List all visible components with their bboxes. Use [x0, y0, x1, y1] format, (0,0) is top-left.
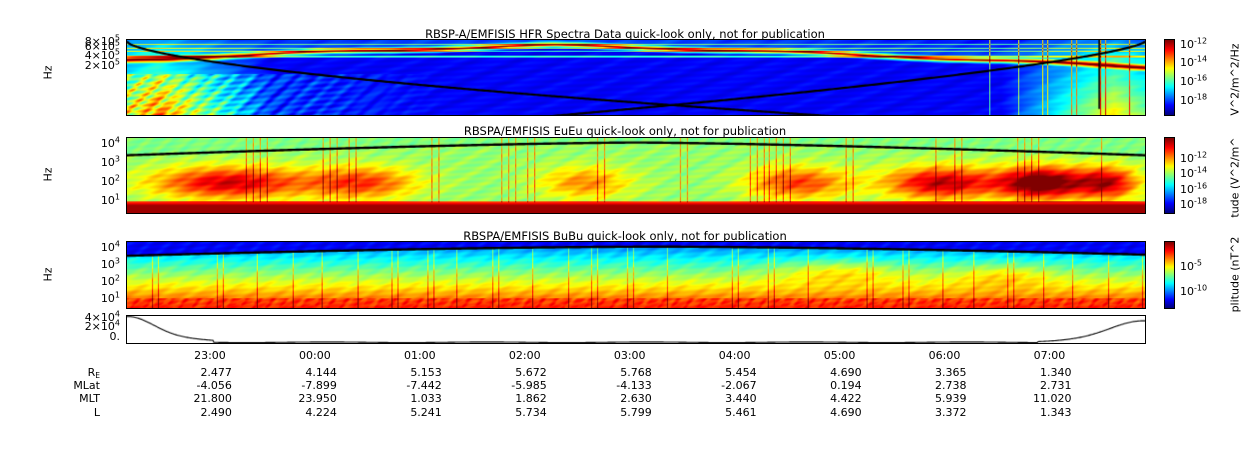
- ytick-bubu-2: 102: [58, 276, 120, 287]
- colorbar-title-bubu: plitude (nT^2: [1229, 225, 1242, 325]
- ephemeris-value: 5.768: [570, 366, 652, 380]
- colorbar-hfr: [1164, 39, 1175, 116]
- ephemeris-value: -4.056: [150, 379, 232, 393]
- ephemeris-value: 4.422: [780, 392, 862, 406]
- time-tick-4: 03:00: [600, 349, 660, 362]
- colorbar-tick-bubu-1: 10-10: [1180, 286, 1207, 297]
- plot-bubu: [126, 241, 1146, 309]
- colorbar-tick-eueu-3: 10-18: [1180, 199, 1207, 210]
- colorbar-tick-hfr-0: 10-12: [1180, 39, 1207, 50]
- ephemeris-value: 4.144: [255, 366, 337, 380]
- ytick-bubu-3: 101: [58, 293, 120, 304]
- time-tick-5: 04:00: [705, 349, 765, 362]
- yaxis-title-bubu: Hz: [42, 255, 55, 295]
- time-tick-2: 01:00: [390, 349, 450, 362]
- time-tick-6: 05:00: [810, 349, 870, 362]
- ytick-eueu-2: 102: [58, 176, 120, 187]
- ephemeris-row-label-1: MLat: [30, 379, 100, 393]
- yaxis-title-eueu: Hz: [42, 155, 55, 195]
- ephemeris-value: 5.241: [360, 406, 442, 420]
- ephemeris-value: 5.672: [465, 366, 547, 380]
- ephemeris-value: 2.738: [885, 379, 967, 393]
- ephemeris-value: 4.690: [780, 366, 862, 380]
- ephemeris-value: 23.950: [255, 392, 337, 406]
- yaxis-title-hfr: Hz: [42, 53, 55, 93]
- ephemeris-value: 5.939: [885, 392, 967, 406]
- figure-root: RBSP-A/EMFISIS HFR Spectra Data quick-lo…: [0, 0, 1250, 449]
- ephemeris-value: 5.461: [675, 406, 757, 420]
- colorbar-tick-eueu-2: 10-16: [1180, 184, 1207, 195]
- panel-title-eueu: RBSPA/EMFISIS EuEu quick-look only, not …: [0, 124, 1250, 138]
- ephemeris-value: 5.153: [360, 366, 442, 380]
- colorbar-bubu: [1164, 241, 1175, 309]
- ephemeris-value: 2.477: [150, 366, 232, 380]
- ephemeris-value: 3.440: [675, 392, 757, 406]
- colorbar-title-hfr: V^2/m^2/Hz: [1229, 30, 1242, 130]
- ephemeris-value: 1.340: [989, 366, 1071, 380]
- colorbar-tick-eueu-1: 10-14: [1180, 168, 1207, 179]
- plot-density-line: [126, 315, 1146, 344]
- ephemeris-value: 2.490: [150, 406, 232, 420]
- time-tick-0: 23:00: [180, 349, 240, 362]
- ephemeris-value: -7.442: [360, 379, 442, 393]
- colorbar-tick-hfr-3: 10-18: [1180, 95, 1207, 106]
- ytick-hfr-3: 2×105: [58, 60, 120, 71]
- ytick-eueu-0: 104: [58, 138, 120, 149]
- ephemeris-value: 1.343: [989, 406, 1071, 420]
- ephemeris-value: 1.862: [465, 392, 547, 406]
- ephemeris-value: 3.372: [885, 406, 967, 420]
- ephemeris-value: 3.365: [885, 366, 967, 380]
- ephemeris-value: 0.194: [780, 379, 862, 393]
- ephemeris-row-label-3: L: [30, 406, 100, 420]
- colorbar-tick-hfr-2: 10-16: [1180, 76, 1207, 87]
- ytick-bubu-0: 104: [58, 242, 120, 253]
- ephemeris-value: 11.020: [989, 392, 1071, 406]
- ephemeris-value: 4.690: [780, 406, 862, 420]
- ephemeris-value: -4.133: [570, 379, 652, 393]
- colorbar-title-eueu: tude (V^2/m^: [1229, 128, 1242, 228]
- ephemeris-value: -5.985: [465, 379, 547, 393]
- colorbar-eueu: [1164, 137, 1175, 214]
- ephemeris-value: 4.224: [255, 406, 337, 420]
- ephemeris-value: 2.731: [989, 379, 1071, 393]
- ephemeris-value: 5.454: [675, 366, 757, 380]
- ephemeris-value: 1.033: [360, 392, 442, 406]
- ephemeris-value: 21.800: [150, 392, 232, 406]
- time-tick-7: 06:00: [915, 349, 975, 362]
- ephemeris-value: 2.630: [570, 392, 652, 406]
- time-tick-8: 07:00: [1019, 349, 1079, 362]
- ytick-density-2: 0.: [52, 331, 120, 342]
- ephemeris-value: -7.899: [255, 379, 337, 393]
- ephemeris-value: 5.799: [570, 406, 652, 420]
- colorbar-tick-hfr-1: 10-14: [1180, 57, 1207, 68]
- colorbar-tick-eueu-0: 10-12: [1180, 153, 1207, 164]
- plot-hfr-spectra: [126, 39, 1146, 116]
- time-tick-3: 02:00: [495, 349, 555, 362]
- ytick-bubu-1: 103: [58, 259, 120, 270]
- ytick-eueu-3: 101: [58, 195, 120, 206]
- colorbar-tick-bubu-0: 10-5: [1180, 261, 1202, 272]
- plot-eueu: [126, 137, 1146, 214]
- ephemeris-row-label-2: MLT: [30, 392, 100, 406]
- ephemeris-value: 5.734: [465, 406, 547, 420]
- time-tick-1: 00:00: [285, 349, 345, 362]
- ytick-eueu-1: 103: [58, 157, 120, 168]
- ephemeris-value: -2.067: [675, 379, 757, 393]
- ephemeris-row-label-0: RE: [30, 366, 100, 380]
